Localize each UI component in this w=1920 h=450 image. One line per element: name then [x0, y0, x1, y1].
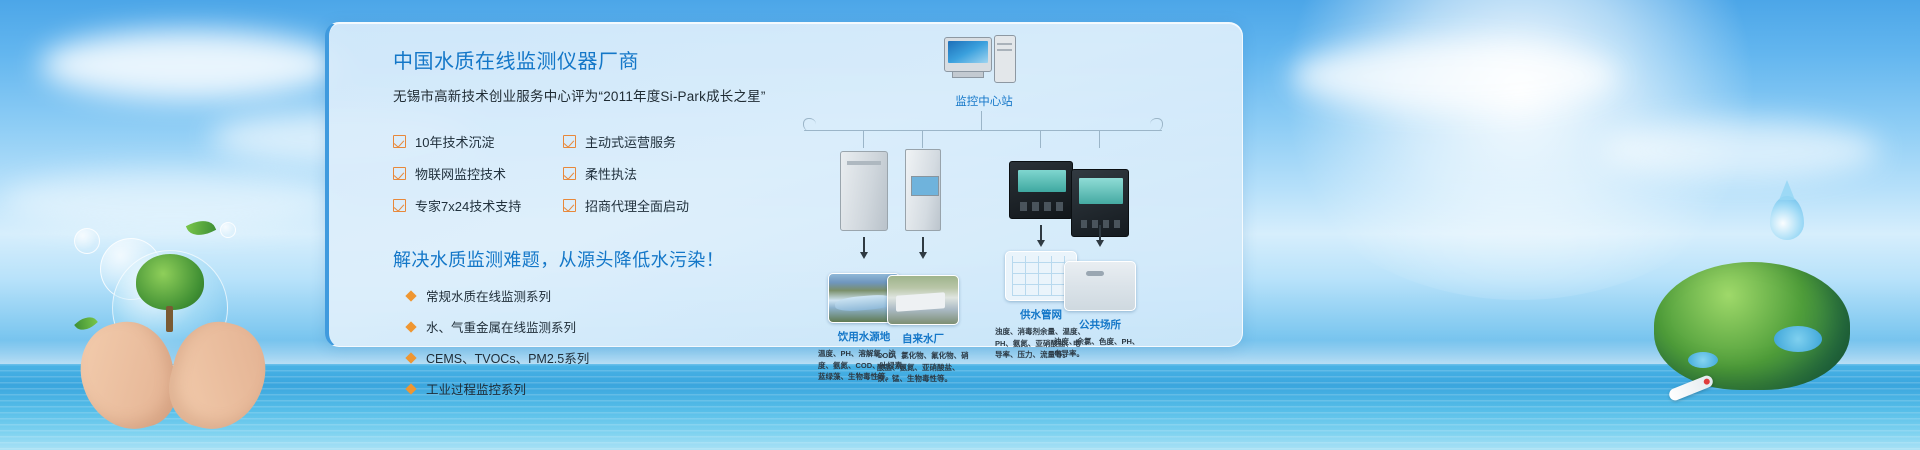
feature-item-6: 招商代理全面启动: [563, 196, 733, 215]
list-item-label: 常规水质在线监测系列: [426, 286, 551, 305]
list-item-label: CEMS、TVOCs、PM2.5系列: [426, 348, 589, 367]
feature-label: 招商代理全面启动: [585, 196, 689, 215]
checkbox-icon: [563, 167, 576, 180]
left-content-column: 中国水质在线监测仪器厂商 无锡市高新技术创业服务中心评为“2011年度Si-Pa…: [393, 45, 753, 398]
trunk-connector: [981, 111, 982, 131]
system-topology-diagram: 监控中心站 饮用水源地 温度、PH、溶解氧、浊度、氨氮、COD、叶绿素、蓝绿藻、…: [759, 31, 1229, 341]
center-node-label: 监控中心站: [914, 93, 1054, 109]
list-item-label: 工业过程监控系列: [426, 379, 526, 398]
list-item: CEMS、TVOCs、PM2.5系列: [393, 348, 753, 367]
feature-item-3: 物联网监控技术: [393, 164, 563, 183]
node-column-4: 公共场所 浊度、余氯、色度、PH、电导率。: [1041, 169, 1159, 359]
water-droplet-icon: [1770, 196, 1804, 240]
tower-slot-2: [997, 49, 1012, 51]
node-caption: 自来水厂: [864, 331, 982, 346]
node-caption: 公共场所: [1041, 317, 1159, 332]
scene-photo-tap: [1064, 261, 1136, 311]
drop-connector-4: [1099, 130, 1100, 148]
device-buttons: [1081, 220, 1121, 228]
drop-connector-1: [863, 130, 864, 148]
feature-label: 专家7x24技术支持: [415, 196, 521, 215]
tree-trunk: [166, 306, 173, 332]
device-analyzer-icon: [905, 149, 941, 231]
earth-lake-left: [1688, 352, 1718, 368]
checkbox-icon: [393, 135, 406, 148]
list-item-label: 水、气重金属在线监测系列: [426, 317, 576, 336]
feature-label: 主动式运营服务: [585, 132, 676, 151]
flow-arrow-icon: [1099, 225, 1101, 241]
diamond-bullet-icon: [405, 352, 416, 363]
flow-arrow-icon: [922, 237, 924, 253]
earth-lake-right: [1774, 326, 1822, 352]
drop-connector-2: [922, 130, 923, 148]
feature-item-5: 专家7x24技术支持: [393, 196, 563, 215]
feature-label: 10年技术沉淀: [415, 132, 494, 151]
list-item: 水、气重金属在线监测系列: [393, 317, 753, 336]
leaf-icon-2: [74, 312, 98, 335]
device-body: [905, 149, 941, 231]
scene-photo-waterworks: [887, 275, 959, 325]
page-subtitle: 无锡市高新技术创业服务中心评为“2011年度Si-Park成长之星”: [393, 85, 753, 105]
feature-item-2: 主动式运营服务: [563, 132, 733, 151]
list-item: 常规水质在线监测系列: [393, 286, 753, 305]
feature-label: 物联网监控技术: [415, 164, 506, 183]
node-description: 浊度、余氯、色度、PH、电导率。: [1054, 336, 1146, 359]
checkbox-icon: [563, 135, 576, 148]
leaf-icon-1: [186, 215, 216, 240]
diamond-bullet-icon: [405, 383, 416, 394]
monitor-stand: [952, 72, 984, 78]
bubble-tiny: [220, 222, 236, 238]
checkbox-icon: [393, 199, 406, 212]
diamond-bullet-icon: [405, 290, 416, 301]
main-panel: 中国水质在线监测仪器厂商 无锡市高新技术创业服务中心评为“2011年度Si-Pa…: [325, 22, 1243, 347]
feature-checklist: 10年技术沉淀 主动式运营服务 物联网监控技术 柔性执法 专家7x24技术支持 …: [393, 132, 753, 215]
node-column-2: 自来水厂 COD、氯化物、氟化物、硝酸盐、氨氮、亚硝酸盐、铁、锰、生物毒性等。: [864, 149, 982, 385]
secondary-title: 解决水质监测难题，从源头降低水污染！: [393, 246, 753, 272]
checkbox-icon: [563, 199, 576, 212]
node-description: COD、氯化物、氟化物、硝酸盐、氨氮、亚硝酸盐、铁、锰、生物毒性等。: [877, 350, 969, 385]
earth-ball: [1654, 262, 1850, 390]
hands-tree-illustration: [70, 210, 300, 450]
page-title: 中国水质在线监测仪器厂商: [393, 45, 753, 74]
tree-canopy: [136, 254, 204, 310]
feature-item-1: 10年技术沉淀: [393, 132, 563, 151]
list-item: 工业过程监控系列: [393, 379, 753, 398]
checkbox-icon: [393, 167, 406, 180]
monitoring-center-computer-icon: [944, 37, 1020, 87]
bubble-small: [74, 228, 100, 254]
feature-item-4: 柔性执法: [563, 164, 733, 183]
monitor-icon: [944, 37, 992, 72]
green-earth-illustration: [1654, 250, 1850, 390]
product-series-list: 常规水质在线监测系列 水、气重金属在线监测系列 CEMS、TVOCs、PM2.5…: [393, 286, 753, 398]
diamond-bullet-icon: [405, 321, 416, 332]
horizontal-bus-connector: [804, 130, 1162, 131]
feature-label: 柔性执法: [585, 164, 637, 183]
cloud-1: [40, 30, 340, 100]
drop-connector-3: [1040, 130, 1041, 148]
tower-slot-1: [997, 43, 1012, 45]
screen: [948, 41, 988, 63]
